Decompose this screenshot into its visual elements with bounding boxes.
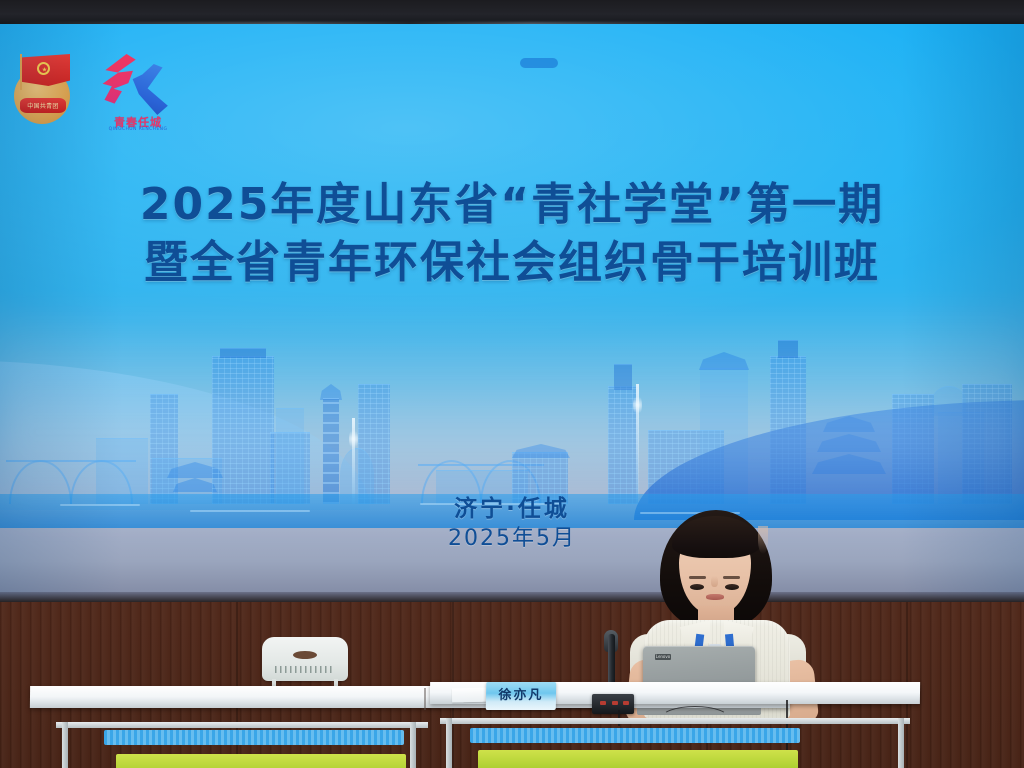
- slide-title-line-2: 暨全省青年环保社会组织骨干培训班: [0, 234, 1024, 292]
- microphone-button[interactable]: [612, 701, 618, 705]
- eye-right: [725, 584, 739, 590]
- skyline-tower-cap: [778, 340, 798, 358]
- skyline-tower-cap: [220, 348, 266, 358]
- skyline-spire: [636, 384, 639, 504]
- desk-under-rail: [56, 722, 428, 728]
- skyline-tower-cap: [614, 364, 632, 390]
- under-desk-green-item: [478, 750, 798, 768]
- desk-leg: [898, 718, 904, 768]
- skyline-tower: [212, 356, 274, 504]
- name-placard-text: 徐亦凡: [498, 684, 543, 703]
- laptop-brand-logo: Lenovo: [655, 654, 671, 660]
- chair-backrest: [262, 637, 348, 681]
- ceiling-bar: [0, 0, 1024, 26]
- desk-leg: [410, 722, 416, 768]
- desk-under-rail: [440, 718, 910, 724]
- hair-part: [758, 526, 768, 554]
- slide-logos: 中国共青团 青春任城 QINGCHUN RENCHENG: [8, 46, 188, 138]
- under-desk-green-item: [116, 754, 406, 768]
- desk-seam: [424, 688, 426, 710]
- microphone-base[interactable]: [592, 694, 634, 714]
- name-placard: 徐亦凡: [486, 682, 556, 710]
- screen-blue-marker: [520, 58, 558, 68]
- eyebrow-right: [723, 576, 740, 579]
- pagoda-tier: [512, 444, 570, 458]
- emblem-star-icon: [37, 62, 50, 75]
- desk-leg: [62, 722, 68, 768]
- slide-date-text: 2025年5月: [0, 524, 1024, 554]
- skyline-spire: [352, 418, 355, 504]
- qingchun-rencheng-logo-icon: 青春任城 QINGCHUN RENCHENG: [90, 50, 182, 138]
- logo-pinyin-text: QINGCHUN RENCHENG: [96, 127, 180, 132]
- emblem-banner-text: 中国共青团: [20, 98, 66, 113]
- chair-vent-slots: [275, 666, 335, 673]
- slide-title-line-1: 2025年度山东省“青社学堂”第一期: [0, 176, 1024, 234]
- slide-title-block: 2025年度山东省“青社学堂”第一期 暨全省青年环保社会组织骨干培训班: [0, 176, 1024, 292]
- eyebrow-left: [689, 576, 706, 579]
- under-desk-blue-item: [470, 728, 800, 743]
- skyline-building: [276, 408, 304, 504]
- nose: [711, 576, 718, 587]
- mouth: [706, 594, 724, 600]
- communist-youth-league-emblem-icon: 中国共青团: [12, 52, 74, 126]
- microphone-button[interactable]: [623, 701, 629, 705]
- screenshot-stage: 中国共青团 青春任城 QINGCHUN RENCHENG 2025年度山东省“青…: [0, 0, 1024, 768]
- eye-left: [690, 584, 704, 590]
- emblem-flagpole: [20, 54, 22, 90]
- under-desk-blue-item: [104, 730, 404, 745]
- projection-screen: 中国共青团 青春任城 QINGCHUN RENCHENG 2025年度山东省“青…: [0, 24, 1024, 602]
- chair-handle-hole: [293, 651, 317, 659]
- slide-venue-block: 济宁·任城 2025年5月: [0, 494, 1024, 554]
- slide-venue-text: 济宁·任城: [0, 494, 1024, 524]
- screen-bottom-edge: [0, 592, 1024, 602]
- microphone-button[interactable]: [600, 701, 606, 705]
- desk-leg: [446, 718, 452, 768]
- pagoda-tier: [699, 352, 749, 370]
- pagoda-body: [323, 398, 339, 504]
- pagoda-tier: [173, 478, 217, 492]
